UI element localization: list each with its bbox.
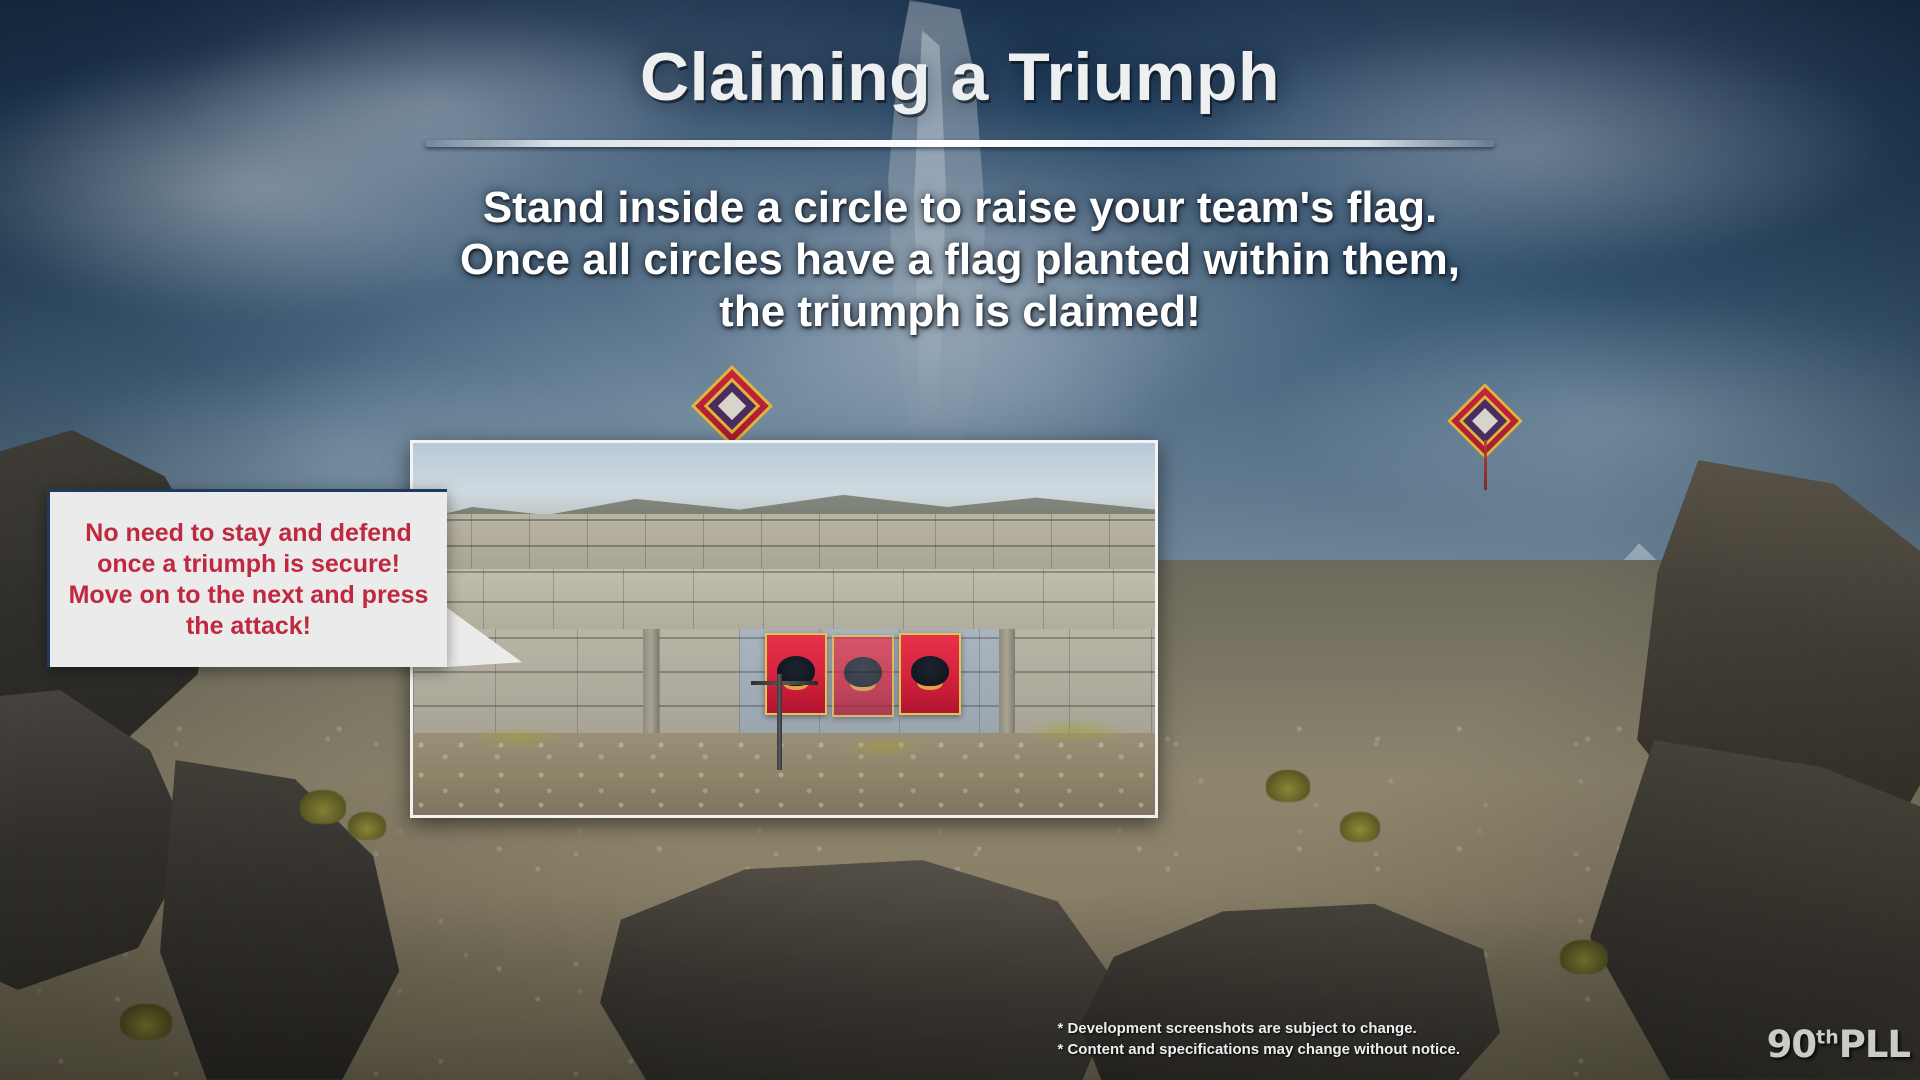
marker-pole [1484, 440, 1487, 490]
inset-pillar [643, 629, 659, 741]
description-line-3: the triumph is claimed! [0, 286, 1920, 338]
disclaimer-text: * Development screenshots are subject to… [1057, 1018, 1460, 1060]
inset-moss-patch [843, 737, 923, 757]
callout-line-1: No need to stay and defend [69, 518, 429, 549]
screenshot-inset [410, 440, 1158, 818]
description-text: Stand inside a circle to raise your team… [0, 182, 1920, 338]
shrub [348, 812, 386, 840]
shrub [1340, 812, 1380, 842]
callout-line-4: the attack! [69, 611, 429, 642]
team-flag-banner [899, 633, 961, 715]
disclaimer-line-1: * Development screenshots are subject to… [1057, 1018, 1460, 1039]
logo-ordinal: th [1816, 1027, 1839, 1049]
flag-stand-pole [777, 674, 782, 771]
team-flag-banner [832, 635, 894, 717]
description-line-2: Once all circles have a flag planted wit… [0, 234, 1920, 286]
page-title-container: Claiming a Triumph [0, 38, 1920, 116]
inset-pillar [999, 629, 1015, 741]
callout-tooltip: No need to stay and defend once a triump… [47, 489, 447, 667]
callout-body: No need to stay and defend once a triump… [47, 489, 447, 667]
shrub [1266, 770, 1310, 802]
shrub [300, 790, 346, 824]
callout-line-2: once a triumph is secure! [69, 549, 429, 580]
callout-text: No need to stay and defend once a triump… [69, 518, 429, 642]
inset-wall-upper [413, 514, 1155, 574]
logo-suffix: PLL [1839, 1023, 1910, 1066]
inset-wall-middle [413, 569, 1155, 632]
shrub [120, 1004, 172, 1040]
description-line-1: Stand inside a circle to raise your team… [0, 182, 1920, 234]
inset-moss-patch [472, 726, 562, 748]
slide-root: Claiming a Triumph Stand inside a circle… [0, 0, 1920, 1080]
flag-stand-arm [751, 681, 818, 685]
logo-number: 90 [1767, 1023, 1817, 1066]
title-underline-rule [425, 140, 1495, 147]
disclaimer-line-2: * Content and specifications may change … [1057, 1039, 1460, 1060]
event-logo: 90thPLL [1767, 1023, 1910, 1066]
team-flag-banner [765, 633, 827, 715]
shrub [1560, 940, 1608, 974]
callout-line-3: Move on to the next and press [69, 580, 429, 611]
page-title: Claiming a Triumph [640, 38, 1280, 116]
